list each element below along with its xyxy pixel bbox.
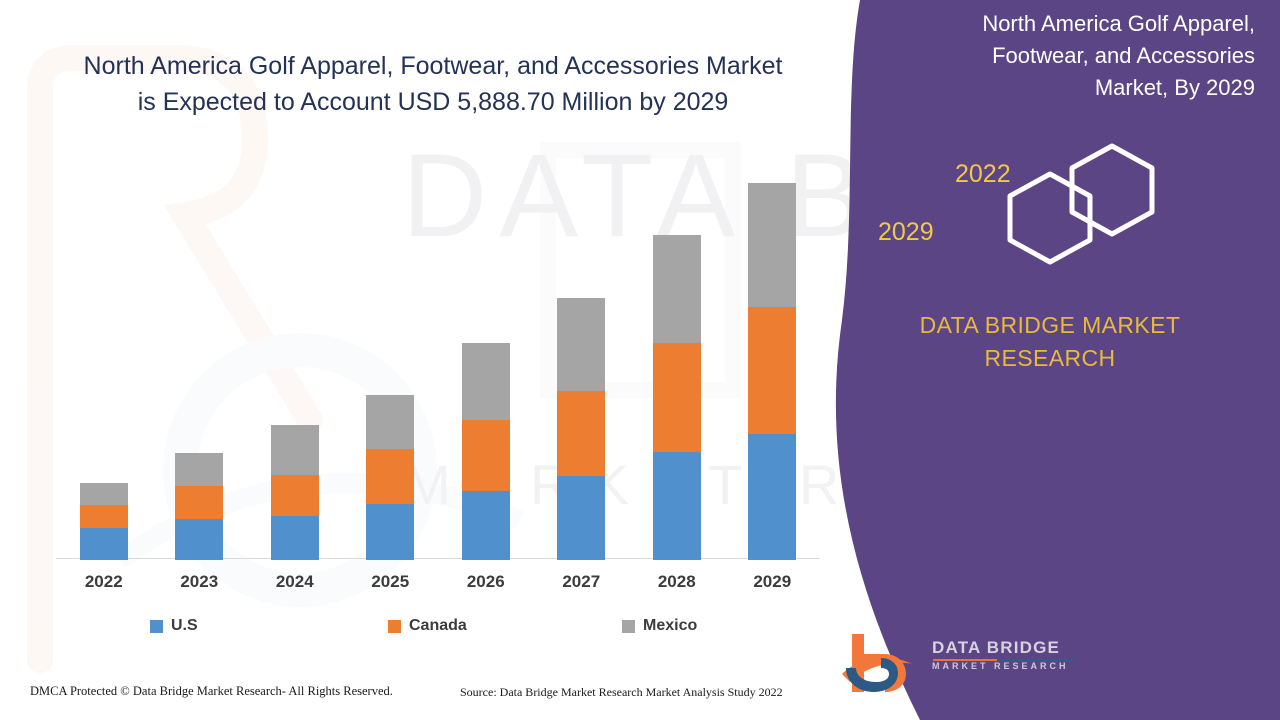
brand-name-line-1: DATA BRIDGE MARKET [840,312,1260,339]
hexagon-2022-label: 2022 [955,160,1011,189]
bar-segment-us[interactable] [366,504,414,560]
footer-copyright: DMCA Protected © Data Bridge Market Rese… [30,684,393,699]
x-tick-2029: 2029 [724,572,820,592]
bar-segment-mexico[interactable] [80,483,128,505]
bar-group[interactable] [557,298,605,560]
bar-segment-canada[interactable] [462,420,510,491]
bar-segment-mexico[interactable] [653,235,701,343]
bar-segment-mexico[interactable] [175,453,223,487]
x-tick-2023: 2023 [151,572,247,592]
legend-item-us[interactable]: U.S [150,617,198,635]
bar-segment-us[interactable] [175,519,223,560]
bar-segment-canada[interactable] [748,307,796,433]
panel-title-line-2: Footwear, and Accessories [900,40,1255,72]
bar-group[interactable] [653,235,701,560]
x-tick-2025: 2025 [342,572,438,592]
bar-segment-mexico[interactable] [557,298,605,391]
bar-segment-us[interactable] [653,452,701,560]
right-panel-content: North America Golf Apparel, Footwear, an… [820,0,1280,720]
bar-segment-us[interactable] [557,476,605,560]
logo-divider [933,659,1075,661]
legend-item-canada[interactable]: Canada [388,617,467,635]
x-tick-2027: 2027 [533,572,629,592]
hexagon-2029-label: 2029 [878,218,934,247]
panel-title-line-1: North America Golf Apparel, [900,8,1255,40]
bar-segment-us[interactable] [462,491,510,560]
bar-group[interactable] [366,395,414,560]
bar-segment-canada[interactable] [366,449,414,504]
infographic-page: DATA BRIDGE MARKET RESEARCH North Americ… [0,0,1280,720]
bar-segment-mexico[interactable] [748,183,796,307]
footer-source: Source: Data Bridge Market Research Mark… [460,685,783,700]
panel-title-line-3: Market, By 2029 [900,72,1255,104]
x-tick-2028: 2028 [629,572,725,592]
bar-group[interactable] [271,425,319,560]
bar-segment-canada[interactable] [653,343,701,451]
bar-segment-us[interactable] [271,516,319,560]
chart-legend: U.SCanadaMexico [150,617,730,641]
bar-segment-canada[interactable] [271,475,319,516]
plot-area [56,160,820,560]
dbmr-logo-text: DATA BRIDGE MARKET RESEARCH [932,638,1069,674]
legend-swatch-icon [388,620,401,633]
bar-segment-canada[interactable] [557,391,605,476]
bar-segment-us[interactable] [80,528,128,560]
bar-segment-us[interactable] [748,434,796,560]
legend-swatch-icon [622,620,635,633]
bar-segment-mexico[interactable] [366,395,414,450]
legend-swatch-icon [150,620,163,633]
legend-label: U.S [171,617,198,635]
brand-name-line-2: RESEARCH [840,345,1260,372]
x-tick-2024: 2024 [247,572,343,592]
x-tick-2026: 2026 [438,572,534,592]
bar-group[interactable] [462,343,510,560]
stacked-bar-chart: 20222023202420252026202720282029 [0,0,880,720]
panel-title: North America Golf Apparel, Footwear, an… [900,8,1255,104]
bar-segment-mexico[interactable] [271,425,319,474]
bar-segment-canada[interactable] [80,505,128,528]
bar-group[interactable] [175,453,223,560]
bar-group[interactable] [748,183,796,560]
legend-label: Canada [409,617,467,635]
bar-group[interactable] [80,483,128,560]
bar-segment-mexico[interactable] [462,343,510,420]
x-tick-2022: 2022 [56,572,152,592]
bar-segment-canada[interactable] [175,486,223,519]
legend-item-mexico[interactable]: Mexico [622,617,697,635]
logo-name: DATA BRIDGE [932,638,1069,658]
legend-label: Mexico [643,617,697,635]
